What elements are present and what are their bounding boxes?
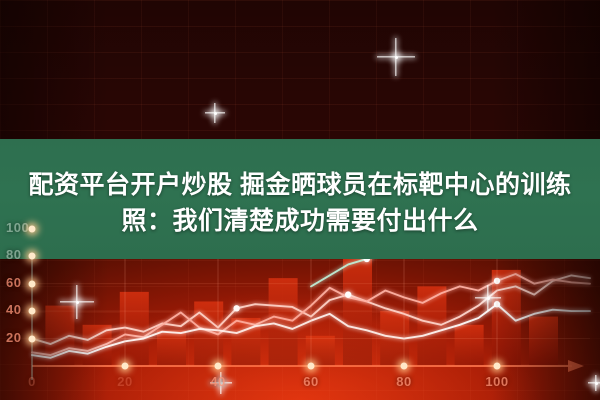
x-tick-dot	[494, 363, 501, 370]
x-tick-dot	[215, 363, 222, 370]
chart-bar	[343, 259, 372, 366]
headline-line-2: 照：我们清楚成功需要付出什么	[12, 204, 588, 240]
chart-bar	[455, 325, 484, 366]
chart-data-marker	[233, 305, 239, 311]
y-tick-dot	[29, 308, 36, 315]
y-tick-dot	[29, 225, 36, 232]
y-tick-dot	[29, 335, 36, 342]
y-tick-dot	[29, 280, 36, 287]
y-tick-dot	[29, 253, 36, 260]
chart-bar	[529, 317, 558, 366]
headline: 配资平台开户炒股 掘金晒球员在标靶中心的训练 照：我们清楚成功需要付出什么	[0, 168, 600, 239]
headline-line-1: 配资平台开户炒股 掘金晒球员在标靶中心的训练	[12, 168, 588, 204]
x-tick-dot	[308, 363, 315, 370]
chart-bar	[157, 330, 186, 366]
chart-data-marker	[345, 291, 351, 297]
x-tick-dot	[401, 363, 408, 370]
chart-bar	[492, 270, 521, 366]
chart-bar	[269, 278, 298, 366]
banner-image: 配资平台开户炒股 掘金晒球员在标靶中心的训练 照：我们清楚成功需要付出什么 20…	[0, 0, 600, 400]
x-tick-dot	[122, 363, 129, 370]
chart-bar	[306, 336, 335, 366]
